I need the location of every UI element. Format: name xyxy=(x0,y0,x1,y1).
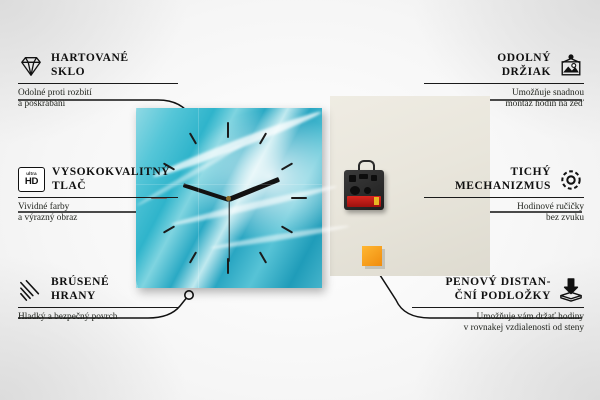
feature-title-line2: MECHANIZMUS xyxy=(424,180,551,194)
diamond-icon xyxy=(18,54,44,78)
feature-subtitle-line1: Umožňuje snadnou xyxy=(424,88,584,99)
divider xyxy=(412,307,584,308)
feature-subtitle-line2: a poškrábání xyxy=(18,99,178,110)
feature-title-line2: SKLO xyxy=(51,66,129,80)
infographic-canvas: HARTOVANÉ SKLO Odolné proti rozbití a po… xyxy=(0,0,600,400)
feature-title-line1: ODOLNÝ xyxy=(424,52,551,66)
feature-durable-holder: ODOLNÝ DRŽIAK Umožňuje snadnou montáž ho… xyxy=(424,52,584,111)
divider xyxy=(424,197,584,198)
foam-spacer-icon xyxy=(558,278,584,302)
feature-subtitle-line1: Hladký a bezpečný povrch xyxy=(18,312,178,323)
clock-center-pin xyxy=(226,196,231,201)
feature-title-line1: VYSOKOKVALITNÝ xyxy=(52,166,170,180)
feature-silent-mechanism: TICHÝ MECHANIZMUS Hodinové ručičky bez z… xyxy=(424,166,584,225)
feature-title-line2: ČNÍ PODLOŽKY xyxy=(412,290,551,304)
ultra-hd-icon: ultra HD xyxy=(18,167,45,192)
feature-title-line1: BRÚSENÉ xyxy=(51,276,109,290)
feature-high-quality-print: ultra HD VYSOKOKVALITNÝ TLAČ Vividné far… xyxy=(18,166,178,225)
divider xyxy=(18,83,178,84)
feature-title-line2: TLAČ xyxy=(52,180,170,194)
feature-foam-spacers: PENOVÝ DISTAN- ČNÍ PODLOŽKY Umožňuje vám… xyxy=(412,276,584,335)
feature-title-line1: HARTOVANÉ xyxy=(51,52,129,66)
feature-subtitle-line1: Hodinové ručičky xyxy=(424,202,584,213)
divider xyxy=(424,83,584,84)
feature-subtitle-line2: a výrazný obraz xyxy=(18,213,178,224)
feature-ground-edges: BRÚSENÉ HRANY Hladký a bezpečný povrch xyxy=(18,276,178,323)
feature-title-line1: TICHÝ xyxy=(424,166,551,180)
feature-subtitle-line1: Odolné proti rozbití xyxy=(18,88,178,99)
ultra-hd-icon-main-text: HD xyxy=(25,177,38,187)
ground-edges-icon xyxy=(18,278,44,302)
clock-second-hand xyxy=(228,200,229,262)
feature-title-line2: DRŽIAK xyxy=(424,66,551,80)
feature-tempered-glass: HARTOVANÉ SKLO Odolné proti rozbití a po… xyxy=(18,52,178,111)
divider xyxy=(18,307,178,308)
clock-minute-hand xyxy=(183,183,230,202)
feature-subtitle-line2: v rovnakej vzdialenosti od steny xyxy=(412,323,584,334)
mechanism-battery xyxy=(347,196,381,207)
feature-subtitle-line1: Umožňuje vám držať hodiny xyxy=(412,312,584,323)
divider xyxy=(18,197,178,198)
feature-subtitle-line2: montáž hodin na zeď xyxy=(424,99,584,110)
feature-subtitle-line2: bez zvuku xyxy=(424,213,584,224)
gear-icon xyxy=(558,168,584,192)
foam-spacer-pad xyxy=(362,246,382,266)
feature-title-line2: HRANY xyxy=(51,290,109,304)
feature-title-line1: PENOVÝ DISTAN- xyxy=(412,276,551,290)
wall-mount-frame-icon xyxy=(558,54,584,78)
clock-hour-hand xyxy=(228,177,280,202)
connector-node xyxy=(185,291,193,299)
feature-subtitle-line1: Vividné farby xyxy=(18,202,178,213)
